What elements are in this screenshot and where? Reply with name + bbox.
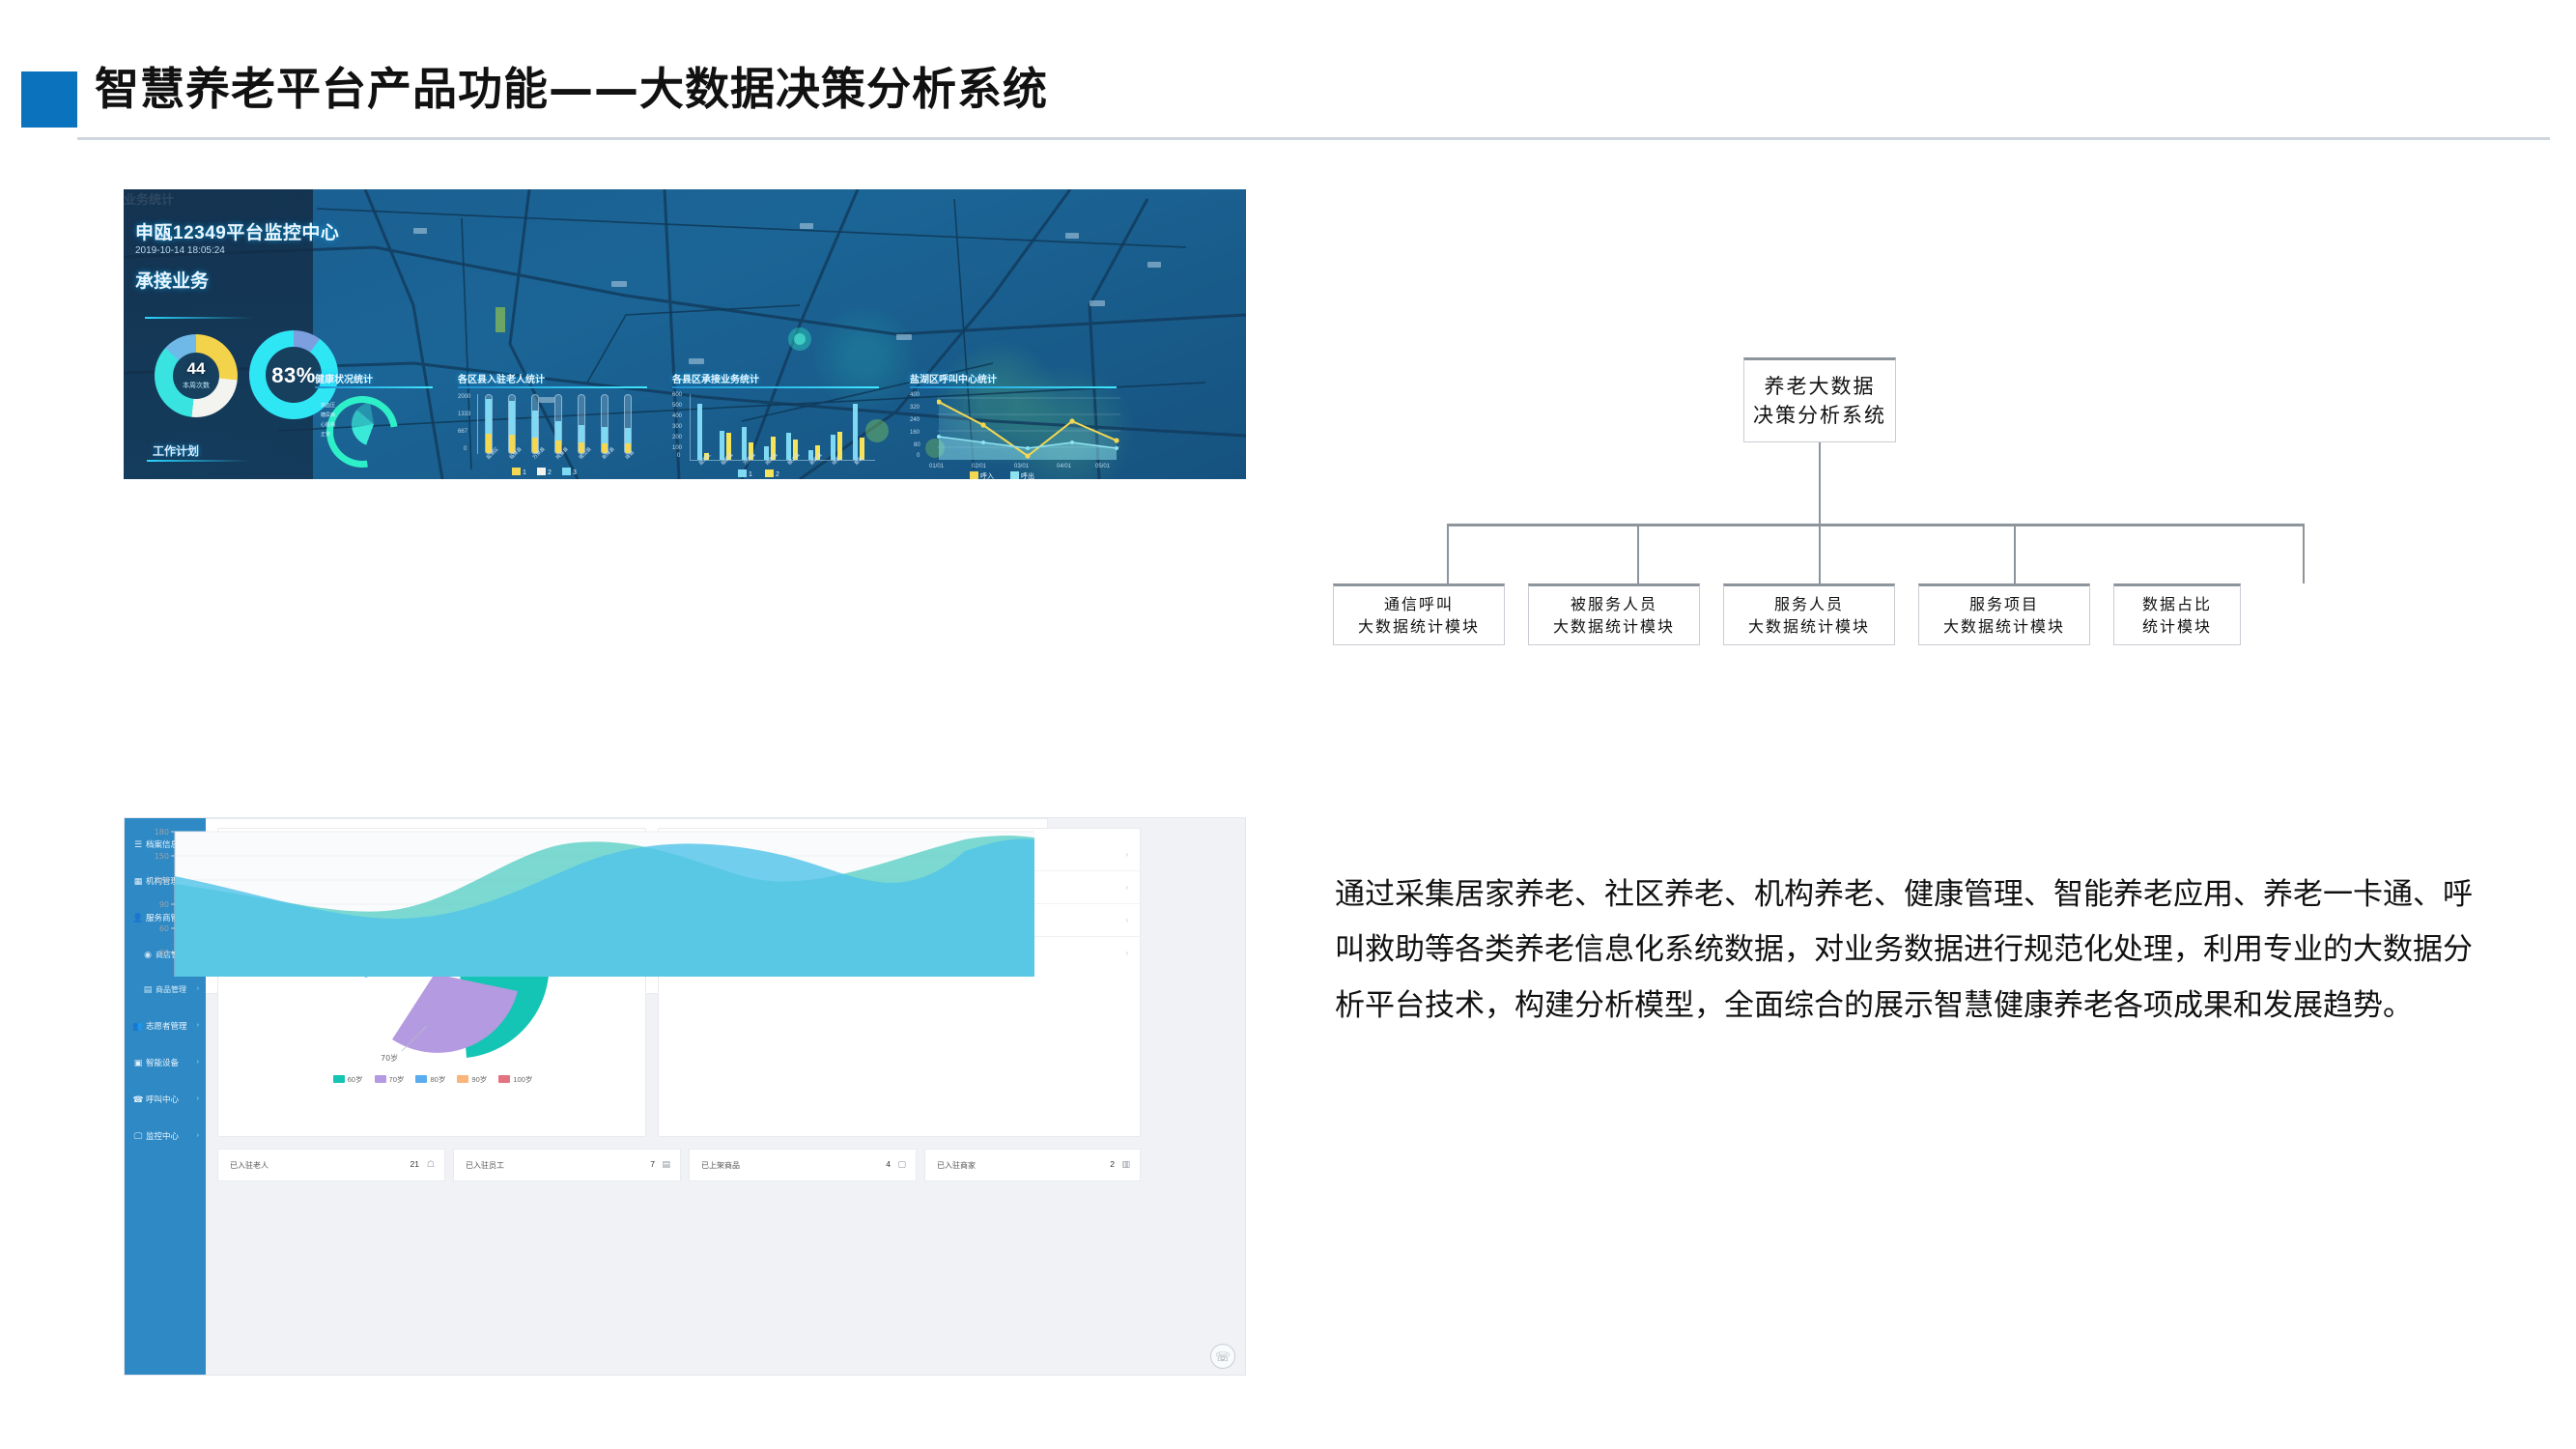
org-node-line2: 统计模块: [2142, 617, 2212, 636]
stat-card-staff[interactable]: 已入驻员工 7 ▤: [453, 1149, 681, 1181]
gis-underline-1: [145, 317, 253, 319]
area-chart-svg: 180 150 120 90 60 30: [125, 818, 1048, 994]
org-connector-horizontal: [1447, 524, 2305, 526]
legend-label: 呼出: [1021, 473, 1034, 479]
y-tick: 400: [672, 413, 682, 419]
y-tick: 120: [155, 876, 169, 885]
x-tick: 05/01: [1095, 464, 1110, 469]
org-root-node: 养老大数据 决策分析系统: [1743, 357, 1896, 442]
box-icon: ▢: [897, 1159, 906, 1170]
legend-label: 70岁: [389, 1075, 405, 1084]
bar: [624, 394, 632, 454]
x-tick: 04/01: [1057, 464, 1071, 469]
stat-value: 4: [886, 1159, 891, 1169]
chevron-right-icon: ›: [1125, 949, 1128, 957]
volunteer-icon: 👥: [130, 1009, 146, 1042]
org-node-served-person: 被服务人员大数据统计模块: [1528, 583, 1700, 645]
gis-datetime: 2019-10-14 18:05:24: [135, 245, 225, 256]
gis-title: 申瓯12349平台监控中心: [135, 218, 339, 244]
org-node-line1: 数据占比: [2142, 595, 2212, 613]
body-paragraph: 通过采集居家养老、社区养老、机构养老、健康管理、智能养老应用、养老一卡通、呼叫救…: [1335, 867, 2475, 1034]
gis-section-plan: 工作计划: [153, 442, 199, 459]
legend-item: 1: [738, 469, 752, 478]
sidebar-item-label: 呼叫中心: [146, 1094, 179, 1104]
legend-item: 1: [512, 468, 526, 476]
grouped-bar-group: [694, 394, 877, 460]
gis-chart-strip: 健康状况统计 高血压 糖尿病 心脏病 正常 各区县入驻老人统计 2000 133…: [313, 371, 1246, 479]
stat-value: 2: [1110, 1159, 1115, 1169]
tube-group: [483, 394, 657, 454]
gis-section-business: 承接业务: [135, 267, 209, 293]
org-node-line1: 通信呼叫: [1384, 595, 1454, 613]
legend-label: 呼入: [980, 473, 994, 479]
org-node-communication: 通信呼叫大数据统计模块: [1333, 583, 1505, 645]
line-chart-svg: [937, 394, 1120, 462]
health-fan: [352, 402, 396, 446]
y-tick: 80: [914, 442, 920, 448]
legend-item[interactable]: 60岁: [333, 1075, 363, 1084]
legend-item: 2: [537, 468, 552, 476]
legend-label: 1: [523, 469, 526, 476]
legend-item: 2: [765, 469, 779, 478]
chevron-right-icon: ›: [1125, 850, 1128, 859]
org-node-line1: 被服务人员: [1571, 595, 1657, 613]
legend-item[interactable]: 100岁: [498, 1075, 532, 1084]
org-connector-drop: [1819, 524, 1821, 583]
admin-dashboard: ☰档案信息› ▦机构管理› 👤服务商管理› ◉商店管理› ▤商品管理› 👥志愿者…: [124, 817, 1246, 1376]
x-tick: 02/01: [972, 464, 986, 469]
y-tick: 100: [672, 445, 682, 451]
phone-icon: ☎: [130, 1083, 146, 1116]
legend-item: 3: [562, 468, 577, 476]
legend-label: 2: [776, 471, 779, 478]
org-connector-drop: [2014, 524, 2016, 583]
sidebar-item-label: 志愿者管理: [146, 1021, 187, 1031]
chevron-down-icon: ›: [197, 1120, 199, 1152]
chevron-down-icon: ›: [197, 1009, 199, 1042]
y-tick: 500: [672, 403, 682, 409]
chart-title-underline: [458, 386, 647, 388]
y-tick: 0: [464, 446, 467, 452]
stat-label: 已入驻商家: [937, 1160, 976, 1171]
bar: [578, 394, 585, 454]
y-tick: 90: [159, 900, 169, 909]
device-icon: ▣: [130, 1046, 146, 1079]
stat-card-goods[interactable]: 已上架商品 4 ▢: [689, 1149, 917, 1181]
bar: [531, 394, 539, 454]
phone-call-icon[interactable]: ☏: [1210, 1344, 1235, 1369]
legend-label: 80岁: [430, 1075, 445, 1084]
chart-title: 各县区承接业务统计: [672, 371, 759, 385]
sidebar-item-label: 监控中心: [146, 1131, 179, 1141]
y-tick: 0: [917, 453, 920, 459]
bar: [601, 394, 609, 454]
org-node-line2: 大数据统计模块: [1748, 617, 1870, 636]
y-tick: 180: [155, 828, 169, 837]
x-tick: 03/01: [1014, 464, 1029, 469]
residents-bar-chart-card: 各区县入驻老人统计 2000 1333 667 0 盐湖区 临猗县: [458, 371, 661, 479]
y-tick: 60: [159, 924, 169, 933]
y-axis: [690, 394, 691, 460]
monitor-icon: 🖵: [130, 1120, 146, 1152]
org-node-service-person: 服务人员大数据统计模块: [1723, 583, 1895, 645]
stat-label: 已上架商品: [701, 1160, 740, 1171]
org-node-line1: 服务项目: [1969, 595, 2039, 613]
legend-item: 呼出: [1010, 471, 1034, 479]
bar: [554, 394, 562, 454]
chart-title-underline: [672, 386, 879, 388]
gis-underline-2: [147, 460, 249, 462]
business-donut-label: 本周次数: [155, 381, 238, 390]
bar: [485, 394, 493, 454]
org-node-data-ratio: 数据占比统计模块: [2113, 583, 2241, 645]
legend-item[interactable]: 80岁: [415, 1075, 445, 1084]
org-chart: 养老大数据 决策分析系统 通信呼叫大数据统计模块 被服务人员大数据统计模块 服务…: [1333, 340, 2560, 668]
y-tick: 600: [672, 392, 682, 398]
health-label: 正常: [321, 431, 330, 438]
business-donut-value: 44: [155, 359, 238, 379]
chevron-down-icon: ›: [197, 1046, 199, 1079]
legend-label: 90岁: [471, 1075, 487, 1084]
y-tick: 300: [672, 424, 682, 430]
title-divider: [77, 137, 2550, 140]
legend-label: 60岁: [348, 1075, 363, 1084]
y-tick: 200: [672, 435, 682, 440]
chevron-right-icon: ›: [1125, 916, 1128, 924]
legend-item: 呼入: [970, 471, 994, 479]
legend-item[interactable]: 70岁: [375, 1075, 405, 1084]
sidebar-item-label: 智能设备: [146, 1058, 179, 1067]
callcenter-line-chart-card: 盐湖区呼叫中心统计 400 320 240 160 80 0: [910, 371, 1132, 479]
y-tick: 30: [159, 949, 169, 957]
y-tick: 320: [910, 405, 920, 411]
chevron-right-icon: ›: [1125, 883, 1128, 892]
org-node-line2: 大数据统计模块: [1943, 617, 2065, 636]
sidebar-item-callcenter[interactable]: ☎呼叫中心›: [125, 1083, 206, 1116]
org-connector-drop: [1447, 524, 1449, 583]
stat-card-residents[interactable]: 已入驻老人 21 ☖: [217, 1149, 445, 1181]
page-title: 智慧养老平台产品功能——大数据决策分析系统: [95, 54, 1048, 118]
y-tick: 667: [458, 429, 467, 435]
x-tick: 01/01: [929, 464, 944, 469]
health-label: 高血压: [321, 402, 335, 409]
y-tick: 160: [910, 430, 920, 436]
y-tick: 240: [910, 417, 920, 423]
y-tick: 1333: [458, 412, 470, 417]
title-accent-block: [21, 71, 77, 128]
stat-label: 已入驻员工: [466, 1160, 504, 1171]
slide-header: 智慧养老平台产品功能——大数据决策分析系统: [0, 50, 2576, 126]
completion-donut-value: 83%: [249, 363, 338, 388]
legend-label: 1: [749, 471, 752, 478]
person-icon: ☖: [427, 1159, 435, 1170]
chart-title: 各区县入驻老人统计: [458, 371, 545, 385]
bar: [508, 394, 516, 454]
org-connector-drop: [2303, 524, 2305, 583]
chart-title-underline: [910, 386, 1117, 388]
legend-label: 3: [573, 469, 577, 476]
pie-label: 70岁: [381, 1053, 398, 1063]
legend-item[interactable]: 90岁: [457, 1075, 487, 1084]
trend-area-chart-card: 180 150 120 90 60 30 ☏: [125, 818, 1048, 994]
org-node-line2: 大数据统计模块: [1553, 617, 1675, 636]
stat-label: 已入驻老人: [230, 1160, 269, 1171]
store-icon: ▥: [1121, 1159, 1130, 1170]
y-tick: 2000: [458, 394, 470, 400]
y-tick: 150: [155, 852, 169, 861]
business-bar-chart-card: 各县区承接业务统计 600 500 400 300 200 100 0: [672, 371, 894, 479]
stat-card-merchants[interactable]: 已入驻商家 2 ▥: [924, 1149, 1141, 1181]
org-root-line2: 决策分析系统: [1753, 404, 1886, 427]
org-root-line1: 养老大数据: [1765, 375, 1876, 398]
sidebar-item-volunteer[interactable]: 👥志愿者管理›: [125, 1009, 206, 1042]
stat-value: 7: [650, 1159, 655, 1169]
org-node-line2: 大数据统计模块: [1358, 617, 1480, 636]
x-axis: [690, 460, 875, 461]
org-connector-vertical: [1819, 442, 1821, 526]
org-node-service-project: 服务项目大数据统计模块: [1918, 583, 2090, 645]
health-label: 糖尿病: [321, 412, 335, 418]
legend-label: 2: [548, 469, 552, 476]
health-label: 心脏病: [321, 421, 335, 428]
chevron-down-icon: ›: [197, 1083, 199, 1116]
sidebar-item-device[interactable]: ▣智能设备›: [125, 1046, 206, 1079]
org-node-line1: 服务人员: [1774, 595, 1844, 613]
pie-legend: 60岁 70岁 80岁 90岁 100岁: [218, 1074, 647, 1085]
y-tick: 400: [910, 392, 920, 398]
gis-monitoring-dashboard: 申瓯12349平台监控中心 2019-10-14 18:05:24 承接业务 业…: [124, 189, 1246, 479]
legend-label: 100岁: [513, 1075, 532, 1084]
slide-canvas: 智慧养老平台产品功能——大数据决策分析系统: [0, 0, 2576, 1449]
y-axis: [477, 394, 478, 454]
org-connector-drop: [1637, 524, 1639, 583]
sidebar-item-monitor[interactable]: 🖵监控中心›: [125, 1120, 206, 1152]
chart-title: 盐湖区呼叫中心统计: [910, 371, 997, 385]
staff-icon: ▤: [662, 1159, 670, 1170]
health-nightingale-chart: [326, 396, 402, 471]
y-tick: 0: [677, 453, 680, 459]
stat-value: 21: [410, 1159, 419, 1169]
